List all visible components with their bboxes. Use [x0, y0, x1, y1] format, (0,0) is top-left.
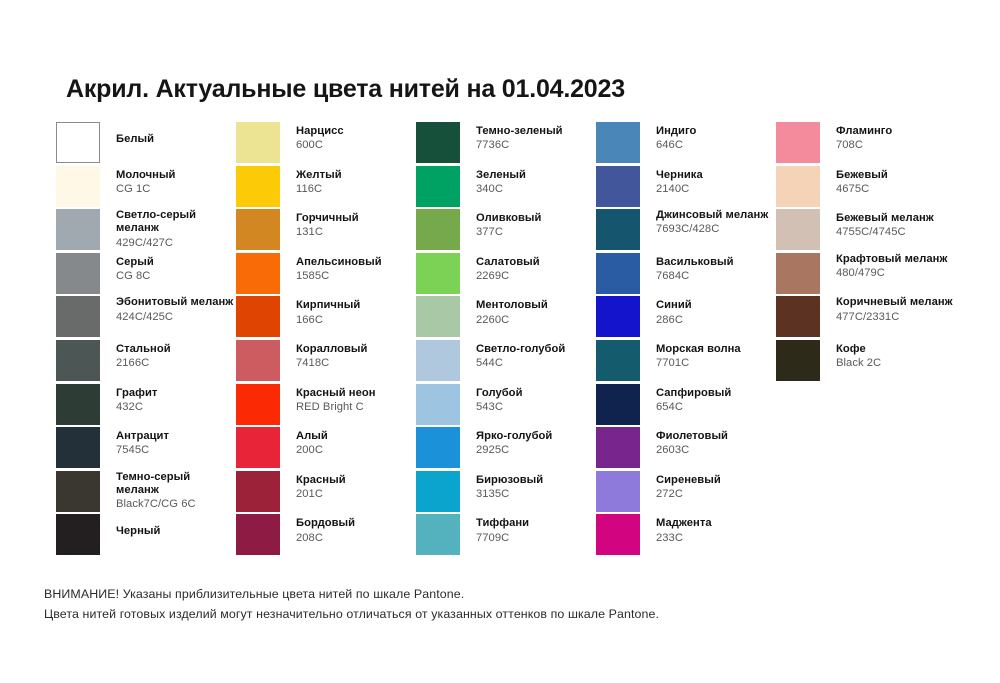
swatch-pantone-code: 377C — [476, 226, 541, 239]
swatch-pantone-code: 286C — [656, 314, 692, 327]
swatch-name: Морская волна — [656, 343, 741, 356]
swatch-labels: Ментоловый2260C — [476, 295, 548, 326]
swatch-row[interactable]: Ментоловый2260C — [416, 295, 596, 339]
swatch-name: Бежевый — [836, 169, 888, 182]
swatch-name: Сиреневый — [656, 474, 721, 487]
swatch-labels: Бирюзовый3135C — [476, 470, 543, 501]
swatch-row[interactable]: КофеBlack 2C — [776, 339, 956, 383]
swatch-grid: БелыйМолочныйCG 1CСветло-серый меланж429… — [56, 121, 956, 557]
footer-line-2: Цвета нитей готовых изделий могут незнач… — [44, 604, 659, 624]
swatch-pantone-code: Black 2C — [836, 357, 881, 370]
swatch-name: Синий — [656, 299, 692, 312]
swatch-row[interactable]: Черника2140C — [596, 165, 776, 209]
swatch-row[interactable]: Фламинго708C — [776, 121, 956, 165]
swatch-name: Светло-голубой — [476, 343, 565, 356]
color-swatch[interactable] — [236, 122, 280, 163]
swatch-row[interactable]: Светло-голубой544C — [416, 339, 596, 383]
swatch-name: Фламинго — [836, 125, 892, 138]
swatch-pantone-code: 2140C — [656, 183, 703, 196]
color-swatch[interactable] — [596, 209, 640, 250]
swatch-pantone-code: 646C — [656, 139, 696, 152]
swatch-name: Серый — [116, 256, 154, 269]
swatch-row[interactable]: Графит432C — [56, 383, 236, 427]
color-chart-page: Акрил. Актуальные цвета нитей на 01.04.2… — [0, 0, 1000, 683]
swatch-name: Фиолетовый — [656, 430, 728, 443]
swatch-name: Черный — [116, 525, 160, 538]
color-swatch[interactable] — [56, 471, 100, 512]
swatch-pantone-code: 233C — [656, 532, 712, 545]
swatch-row[interactable]: Стальной2166C — [56, 339, 236, 383]
swatch-pantone-code: 2269C — [476, 270, 540, 283]
swatch-pantone-code: 166C — [296, 314, 360, 327]
swatch-pantone-code: 200C — [296, 444, 328, 457]
swatch-pantone-code: 4755C/4745C — [836, 226, 934, 239]
swatch-name: Графит — [116, 387, 157, 400]
swatch-labels: Васильковый7684C — [656, 252, 734, 283]
swatch-labels: Желтый116C — [296, 165, 342, 196]
swatch-name: Бордовый — [296, 517, 355, 530]
swatch-pantone-code: 116C — [296, 183, 342, 196]
swatch-pantone-code: 480/479C — [836, 267, 947, 280]
color-swatch[interactable] — [56, 209, 100, 250]
color-swatch[interactable] — [56, 122, 100, 163]
swatch-pantone-code: 432C — [116, 401, 157, 414]
swatch-name: Антрацит — [116, 430, 169, 443]
swatch-pantone-code: CG 8C — [116, 270, 154, 283]
swatch-row[interactable]: Сиреневый272C — [596, 470, 776, 514]
swatch-row[interactable]: СерыйCG 8C — [56, 252, 236, 296]
color-swatch[interactable] — [236, 514, 280, 555]
swatch-row[interactable]: Желтый116C — [236, 165, 416, 209]
swatch-row[interactable]: Бежевый меланж4755C/4745C — [776, 208, 956, 252]
swatch-name: Тиффани — [476, 517, 529, 530]
swatch-pantone-code: 208C — [296, 532, 355, 545]
swatch-row[interactable]: Васильковый7684C — [596, 252, 776, 296]
swatch-name: Кофе — [836, 343, 881, 356]
swatch-pantone-code: 600C — [296, 139, 344, 152]
swatch-row[interactable]: Нарцисс600C — [236, 121, 416, 165]
color-swatch[interactable] — [596, 122, 640, 163]
swatch-pantone-code: 131C — [296, 226, 359, 239]
swatch-labels: Бордовый208C — [296, 513, 355, 544]
swatch-pantone-code: 543C — [476, 401, 523, 414]
swatch-row[interactable]: Белый — [56, 121, 236, 165]
swatch-labels: Тиффани7709C — [476, 513, 529, 544]
column-pinks-browns: Фламинго708CБежевый4675CБежевый меланж47… — [776, 121, 956, 383]
color-swatch[interactable] — [236, 384, 280, 425]
swatch-name: Желтый — [296, 169, 342, 182]
swatch-name: Красный — [296, 474, 346, 487]
color-swatch[interactable] — [56, 384, 100, 425]
color-swatch[interactable] — [596, 296, 640, 337]
swatch-name: Красный неон — [296, 387, 376, 400]
color-swatch[interactable] — [236, 166, 280, 207]
color-swatch[interactable] — [596, 427, 640, 468]
swatch-labels: Темно-серый меланжBlack7C/CG 6C — [116, 470, 236, 512]
color-swatch[interactable] — [416, 340, 460, 381]
swatch-name: Черника — [656, 169, 703, 182]
swatch-row[interactable]: Фиолетовый2603C — [596, 426, 776, 470]
swatch-pantone-code: 7545C — [116, 444, 169, 457]
color-swatch[interactable] — [596, 340, 640, 381]
column-neutrals: БелыйМолочныйCG 1CСветло-серый меланж429… — [56, 121, 236, 557]
color-swatch[interactable] — [416, 427, 460, 468]
swatch-row[interactable]: Горчичный131C — [236, 208, 416, 252]
swatch-labels: Нарцисс600C — [296, 121, 344, 152]
swatch-name: Алый — [296, 430, 328, 443]
page-title: Акрил. Актуальные цвета нитей на 01.04.2… — [66, 75, 625, 104]
swatch-labels: Салатовый2269C — [476, 252, 540, 283]
color-swatch[interactable] — [56, 296, 100, 337]
swatch-row[interactable]: Темно-зеленый7736C — [416, 121, 596, 165]
swatch-name: Бежевый меланж — [836, 212, 934, 225]
color-swatch[interactable] — [776, 122, 820, 163]
swatch-labels: Красный201C — [296, 470, 346, 501]
swatch-labels: Антрацит7545C — [116, 426, 169, 457]
swatch-row[interactable]: Антрацит7545C — [56, 426, 236, 470]
swatch-row[interactable]: Маджента233C — [596, 513, 776, 557]
swatch-name: Голубой — [476, 387, 523, 400]
color-swatch[interactable] — [776, 296, 820, 337]
swatch-labels: СерыйCG 8C — [116, 252, 154, 283]
color-swatch[interactable] — [416, 209, 460, 250]
swatch-pantone-code: 7693C/428C — [656, 223, 768, 236]
swatch-labels: Алый200C — [296, 426, 328, 457]
swatch-row[interactable]: Красный201C — [236, 470, 416, 514]
swatch-name: Индиго — [656, 125, 696, 138]
swatch-name: Крафтовый меланж — [836, 253, 947, 266]
swatch-labels: Эбонитовый меланж424C/425C — [116, 295, 233, 323]
color-swatch[interactable] — [236, 209, 280, 250]
swatch-labels: Апельсиновый1585C — [296, 252, 382, 283]
swatch-row[interactable]: Кирпичный166C — [236, 295, 416, 339]
swatch-name: Молочный — [116, 169, 175, 182]
swatch-row[interactable]: Индиго646C — [596, 121, 776, 165]
swatch-labels: Кирпичный166C — [296, 295, 360, 326]
column-greens: Темно-зеленый7736CЗеленый340CОливковый37… — [416, 121, 596, 557]
swatch-name: Темно-зеленый — [476, 125, 563, 138]
swatch-pantone-code: 2925C — [476, 444, 552, 457]
swatch-name: Ярко-голубой — [476, 430, 552, 443]
color-swatch[interactable] — [596, 471, 640, 512]
swatch-row[interactable]: МолочныйCG 1C — [56, 165, 236, 209]
swatch-row[interactable]: Бордовый208C — [236, 513, 416, 557]
swatch-pantone-code: 544C — [476, 357, 565, 370]
swatch-row[interactable]: Тиффани7709C — [416, 513, 596, 557]
swatch-labels: Стальной2166C — [116, 339, 171, 370]
swatch-row[interactable]: Эбонитовый меланж424C/425C — [56, 295, 236, 339]
swatch-name: Белый — [116, 133, 154, 146]
color-swatch[interactable] — [416, 296, 460, 337]
swatch-labels: Черника2140C — [656, 165, 703, 196]
swatch-row[interactable]: Синий286C — [596, 295, 776, 339]
color-swatch[interactable] — [416, 122, 460, 163]
color-swatch[interactable] — [236, 471, 280, 512]
swatch-labels: Бежевый меланж4755C/4745C — [836, 208, 934, 239]
swatch-name: Оливковый — [476, 212, 541, 225]
swatch-name: Сапфировый — [656, 387, 731, 400]
swatch-labels: Белый — [116, 121, 154, 146]
swatch-labels: Зеленый340C — [476, 165, 526, 196]
swatch-pantone-code: CG 1C — [116, 183, 175, 196]
swatch-pantone-code: 477C/2331C — [836, 311, 953, 324]
swatch-name: Коричневый меланж — [836, 296, 953, 309]
swatch-row[interactable]: Бирюзовый3135C — [416, 470, 596, 514]
swatch-pantone-code: 2603C — [656, 444, 728, 457]
swatch-labels: Синий286C — [656, 295, 692, 326]
swatch-pantone-code: 1585C — [296, 270, 382, 283]
swatch-name: Светло-серый меланж — [116, 209, 236, 235]
color-swatch[interactable] — [596, 253, 640, 294]
color-swatch[interactable] — [236, 427, 280, 468]
swatch-name: Ментоловый — [476, 299, 548, 312]
footer-notes: ВНИМАНИЕ! Указаны приблизительные цвета … — [44, 584, 659, 624]
swatch-name: Кирпичный — [296, 299, 360, 312]
swatch-row[interactable]: Черный — [56, 513, 236, 557]
swatch-pantone-code: Black7C/CG 6C — [116, 498, 236, 511]
swatch-row[interactable]: Джинсовый меланж7693C/428C — [596, 208, 776, 252]
color-swatch[interactable] — [776, 253, 820, 294]
swatch-labels: МолочныйCG 1C — [116, 165, 175, 196]
swatch-labels: Черный — [116, 513, 160, 538]
swatch-name: Васильковый — [656, 256, 734, 269]
swatch-pantone-code: 7709C — [476, 532, 529, 545]
swatch-row[interactable]: Светло-серый меланж429C/427C — [56, 208, 236, 252]
color-swatch[interactable] — [416, 166, 460, 207]
swatch-labels: Морская волна7701C — [656, 339, 741, 370]
swatch-labels: Сиреневый272C — [656, 470, 721, 501]
swatch-pantone-code: 4675C — [836, 183, 888, 196]
swatch-row[interactable]: Крафтовый меланж480/479C — [776, 252, 956, 296]
swatch-row[interactable]: Коричневый меланж477C/2331C — [776, 295, 956, 339]
swatch-row[interactable]: Сапфировый654C — [596, 383, 776, 427]
footer-line-1: ВНИМАНИЕ! Указаны приблизительные цвета … — [44, 584, 659, 604]
color-swatch[interactable] — [596, 166, 640, 207]
swatch-pantone-code: 2260C — [476, 314, 548, 327]
swatch-pantone-code: 7701C — [656, 357, 741, 370]
swatch-labels: Сапфировый654C — [656, 383, 731, 414]
swatch-name: Зеленый — [476, 169, 526, 182]
swatch-pantone-code: 654C — [656, 401, 731, 414]
color-swatch[interactable] — [596, 514, 640, 555]
swatch-labels: Светло-серый меланж429C/427C — [116, 208, 236, 250]
color-swatch[interactable] — [416, 253, 460, 294]
swatch-row[interactable]: Коралловый7418C — [236, 339, 416, 383]
swatch-labels: Бежевый4675C — [836, 165, 888, 196]
swatch-labels: Джинсовый меланж7693C/428C — [656, 208, 768, 236]
swatch-name: Нарцисс — [296, 125, 344, 138]
swatch-labels: Голубой543C — [476, 383, 523, 414]
swatch-pantone-code: 7418C — [296, 357, 367, 370]
swatch-labels: КофеBlack 2C — [836, 339, 881, 370]
swatch-name: Маджента — [656, 517, 712, 530]
swatch-labels: Крафтовый меланж480/479C — [836, 252, 947, 280]
color-swatch[interactable] — [236, 253, 280, 294]
swatch-pantone-code: 201C — [296, 488, 346, 501]
color-swatch[interactable] — [416, 384, 460, 425]
swatch-name: Стальной — [116, 343, 171, 356]
swatch-name: Джинсовый меланж — [656, 209, 768, 222]
color-swatch[interactable] — [236, 296, 280, 337]
swatch-pantone-code: 272C — [656, 488, 721, 501]
swatch-row[interactable]: Оливковый377C — [416, 208, 596, 252]
swatch-pantone-code: 340C — [476, 183, 526, 196]
swatch-name: Салатовый — [476, 256, 540, 269]
swatch-row[interactable]: Зеленый340C — [416, 165, 596, 209]
swatch-name: Темно-серый меланж — [116, 471, 236, 497]
color-swatch[interactable] — [596, 384, 640, 425]
swatch-labels: Ярко-голубой2925C — [476, 426, 552, 457]
swatch-labels: Фиолетовый2603C — [656, 426, 728, 457]
swatch-pantone-code: 424C/425C — [116, 311, 233, 324]
swatch-labels: Оливковый377C — [476, 208, 541, 239]
swatch-name: Апельсиновый — [296, 256, 382, 269]
swatch-labels: Горчичный131C — [296, 208, 359, 239]
color-swatch[interactable] — [56, 166, 100, 207]
swatch-row[interactable]: Голубой543C — [416, 383, 596, 427]
color-swatch[interactable] — [236, 340, 280, 381]
swatch-row[interactable]: Апельсиновый1585C — [236, 252, 416, 296]
color-swatch[interactable] — [56, 253, 100, 294]
swatch-pantone-code: 708C — [836, 139, 892, 152]
swatch-row[interactable]: Бежевый4675C — [776, 165, 956, 209]
swatch-labels: Коралловый7418C — [296, 339, 367, 370]
color-swatch[interactable] — [416, 514, 460, 555]
swatch-name: Горчичный — [296, 212, 359, 225]
swatch-row[interactable]: Алый200C — [236, 426, 416, 470]
color-swatch[interactable] — [776, 209, 820, 250]
swatch-row[interactable]: Красный неонRED Bright C — [236, 383, 416, 427]
swatch-row[interactable]: Темно-серый меланжBlack7C/CG 6C — [56, 470, 236, 514]
color-swatch[interactable] — [776, 340, 820, 381]
color-swatch[interactable] — [776, 166, 820, 207]
swatch-pantone-code: 2166C — [116, 357, 171, 370]
swatch-pantone-code: 7684C — [656, 270, 734, 283]
swatch-labels: Темно-зеленый7736C — [476, 121, 563, 152]
swatch-pantone-code: RED Bright C — [296, 401, 376, 414]
color-swatch[interactable] — [56, 427, 100, 468]
column-warm: Нарцисс600CЖелтый116CГорчичный131CАпельс… — [236, 121, 416, 557]
swatch-name: Бирюзовый — [476, 474, 543, 487]
swatch-pantone-code: 3135C — [476, 488, 543, 501]
color-swatch[interactable] — [56, 340, 100, 381]
swatch-row[interactable]: Салатовый2269C — [416, 252, 596, 296]
swatch-labels: Коричневый меланж477C/2331C — [836, 295, 953, 323]
swatch-pantone-code: 429C/427C — [116, 237, 236, 250]
color-swatch[interactable] — [416, 471, 460, 512]
swatch-labels: Индиго646C — [656, 121, 696, 152]
swatch-name: Коралловый — [296, 343, 367, 356]
swatch-row[interactable]: Ярко-голубой2925C — [416, 426, 596, 470]
swatch-labels: Фламинго708C — [836, 121, 892, 152]
swatch-pantone-code: 7736C — [476, 139, 563, 152]
swatch-labels: Красный неонRED Bright C — [296, 383, 376, 414]
column-blues: Индиго646CЧерника2140CДжинсовый меланж76… — [596, 121, 776, 557]
swatch-labels: Графит432C — [116, 383, 157, 414]
swatch-labels: Маджента233C — [656, 513, 712, 544]
swatch-labels: Светло-голубой544C — [476, 339, 565, 370]
swatch-name: Эбонитовый меланж — [116, 296, 233, 309]
color-swatch[interactable] — [56, 514, 100, 555]
swatch-row[interactable]: Морская волна7701C — [596, 339, 776, 383]
